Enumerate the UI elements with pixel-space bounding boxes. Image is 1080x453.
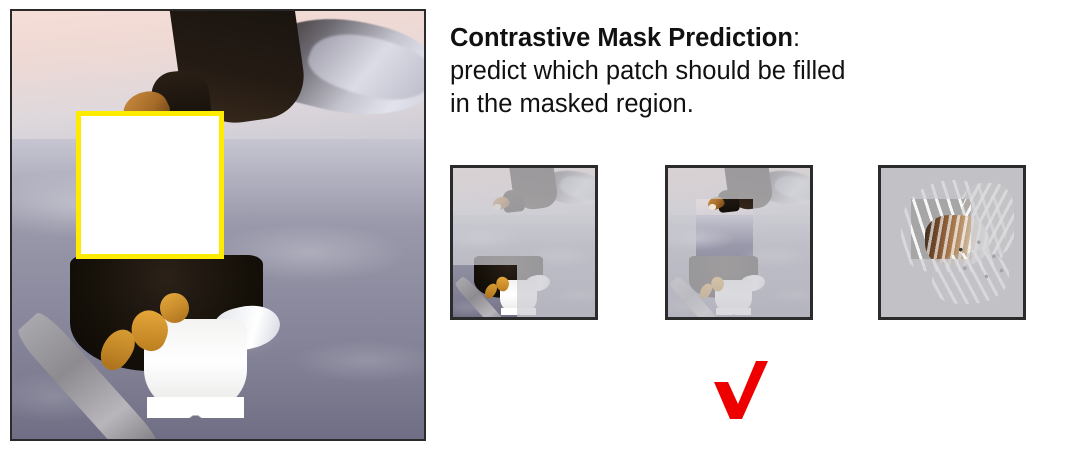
caption: Contrastive Mask Prediction: predict whi… <box>450 22 1030 121</box>
caption-line-1: Contrastive Mask Prediction: <box>450 22 1030 55</box>
lionfish-spots <box>949 236 971 259</box>
main-masked-image <box>10 9 426 441</box>
highlighted-patch <box>696 199 753 256</box>
snow-background <box>696 215 753 257</box>
candidate-thumbnails <box>450 165 1042 323</box>
lionfish-mini-scene <box>911 199 971 259</box>
eagle-mini-scene <box>453 265 517 320</box>
eagle-beak-tip <box>709 204 715 209</box>
lionfish-patch-content <box>911 199 971 259</box>
highlighted-patch <box>453 265 517 320</box>
candidate-thumbnail-1[interactable] <box>450 165 598 320</box>
caption-line-3: in the masked region. <box>450 88 1030 121</box>
check-icon <box>712 360 770 420</box>
masked-region-box <box>76 111 224 259</box>
eagle-mini-scene <box>696 199 753 256</box>
highlighted-patch <box>911 199 971 259</box>
caption-line-2: predict which patch should be filled <box>450 55 1030 88</box>
candidate-thumbnail-3[interactable] <box>878 165 1026 320</box>
candidate-thumbnail-2[interactable] <box>665 165 813 320</box>
caption-title: Contrastive Mask Prediction <box>450 24 793 52</box>
correct-answer-check-icon <box>712 360 770 420</box>
caption-colon: : <box>793 24 800 52</box>
